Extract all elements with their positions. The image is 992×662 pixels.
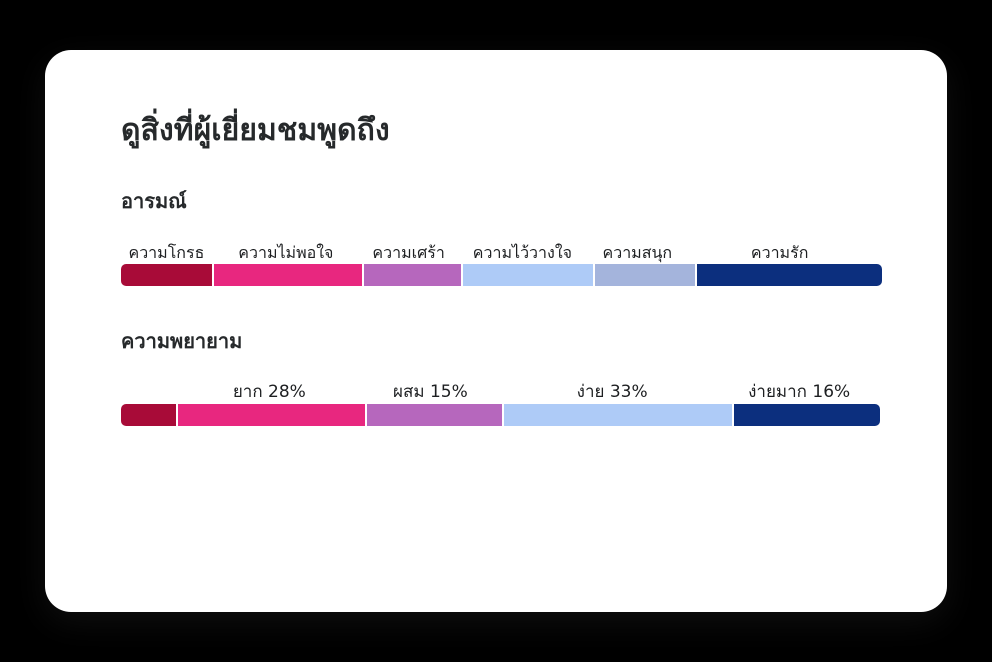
- emotion-segment-label-2: ความไม่พอใจ: [238, 243, 333, 264]
- effort-segment-label-2: ยาก 28%: [233, 381, 306, 403]
- section-emotion: อารมณ์ ความโกรธความไม่พอใจความเศร้าความไ…: [121, 188, 915, 286]
- emotion-label-row: ความโกรธความไม่พอใจความเศร้าความไว้วางใจ…: [121, 234, 872, 264]
- effort-bar-segment-4[interactable]: [504, 404, 732, 426]
- emotion-segment-label-5: ความสนุก: [603, 243, 673, 264]
- screen: ดูสิ่งที่ผู้เยี่ยมชมพูดถึง อารมณ์ ความโก…: [0, 0, 992, 662]
- effort-segment-label-5: ง่ายมาก 16%: [748, 381, 850, 403]
- emotion-chart: ความโกรธความไม่พอใจความเศร้าความไว้วางใจ…: [121, 234, 872, 286]
- effort-segment-label-3: ผสม 15%: [393, 381, 468, 403]
- effort-bar-segment-5[interactable]: [734, 404, 880, 426]
- visitor-sentiment-card: ดูสิ่งที่ผู้เยี่ยมชมพูดถึง อารมณ์ ความโก…: [45, 50, 947, 612]
- section-title-emotion: อารมณ์: [121, 188, 915, 214]
- section-title-effort: ความพยายาม: [121, 328, 915, 354]
- emotion-segment-label-1: ความโกรธ: [128, 243, 204, 264]
- effort-segment-label-4: ง่าย 33%: [577, 381, 648, 403]
- section-effort: ความพยายาม ยาก 28%ผสม 15%ง่าย 33%ง่ายมาก…: [121, 328, 915, 426]
- effort-bar-segment-3[interactable]: [367, 404, 502, 426]
- emotion-bar-segment-2[interactable]: [214, 264, 362, 286]
- effort-label-row: ยาก 28%ผสม 15%ง่าย 33%ง่ายมาก 16%: [121, 372, 872, 404]
- emotion-bar-segment-5[interactable]: [595, 264, 695, 286]
- effort-stacked-bar[interactable]: [121, 404, 872, 426]
- emotion-segment-label-6: ความรัก: [751, 243, 809, 264]
- card-content: ดูสิ่งที่ผู้เยี่ยมชมพูดถึง อารมณ์ ความโก…: [121, 112, 915, 592]
- effort-bar-segment-1[interactable]: [121, 404, 176, 426]
- emotion-segment-label-4: ความไว้วางใจ: [473, 243, 572, 264]
- emotion-bar-segment-6[interactable]: [697, 264, 882, 286]
- effort-chart: ยาก 28%ผสม 15%ง่าย 33%ง่ายมาก 16%: [121, 372, 872, 426]
- emotion-bar-segment-1[interactable]: [121, 264, 212, 286]
- emotion-segment-label-3: ความเศร้า: [372, 243, 444, 264]
- emotion-stacked-bar[interactable]: [121, 264, 872, 286]
- effort-bar-segment-2[interactable]: [178, 404, 365, 426]
- emotion-bar-segment-3[interactable]: [364, 264, 462, 286]
- page-title: ดูสิ่งที่ผู้เยี่ยมชมพูดถึง: [121, 112, 915, 150]
- emotion-bar-segment-4[interactable]: [463, 264, 593, 286]
